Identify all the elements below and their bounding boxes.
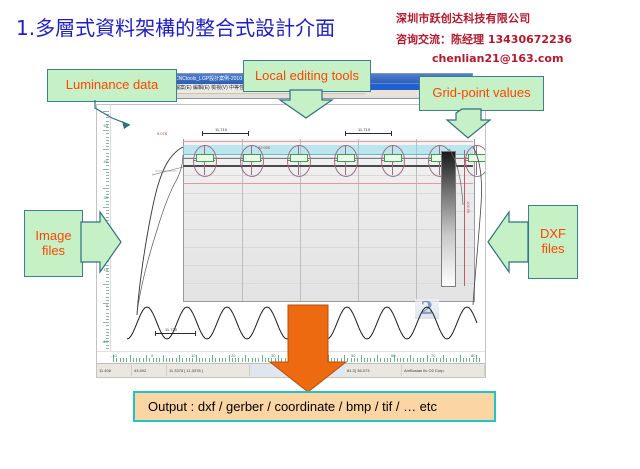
- cad-canvas[interactable]: 50403020100-10 11.710 11.710 5.076: [96, 104, 486, 378]
- ruler-tick: [314, 358, 315, 362]
- ruler-tick: [400, 358, 401, 362]
- ruler-tick: [196, 355, 197, 362]
- cad-canvas-inner: 50403020100-10 11.710 11.710 5.076: [97, 105, 485, 377]
- ruler-tick: [450, 358, 451, 362]
- ruler-tick: [453, 358, 454, 362]
- ruler-tick: [298, 358, 299, 362]
- ruler-tick: [278, 355, 279, 362]
- callout-dxf-files-line2: files: [541, 242, 564, 257]
- ruler-tick: [433, 358, 434, 362]
- ruler-tick: [252, 358, 253, 362]
- ruler-tick: [377, 355, 378, 362]
- status-bar-cell: [250, 365, 345, 376]
- ruler-tick: [436, 358, 437, 362]
- ruler-tick: [413, 358, 414, 362]
- ruler-tick: [153, 358, 154, 362]
- ruler-tick: [159, 358, 160, 362]
- ruler-tick: [212, 355, 213, 362]
- callout-dxf-files[interactable]: DXF files: [528, 205, 578, 279]
- callout-grid-point-values[interactable]: Grid-point values: [419, 76, 544, 111]
- status-bar-cell: 81.3) 36.073: [345, 365, 402, 376]
- arrow-dxf-files-left: [488, 212, 528, 272]
- ruler-tick: [456, 358, 457, 362]
- ruler-tick: [248, 358, 249, 362]
- cad-curves: [97, 105, 485, 377]
- output-formats-box[interactable]: Output : dxf / gerber / coordinate / bmp…: [133, 391, 496, 422]
- ruler-tick: [139, 358, 140, 362]
- ruler-tick: [308, 358, 309, 362]
- ruler-label: 0: [151, 353, 153, 358]
- callout-image-files-line2: files: [42, 244, 65, 259]
- ruler-tick: [427, 355, 428, 362]
- ruler-tick: [232, 358, 233, 362]
- ruler-tick: [337, 358, 338, 362]
- horizontal-ruler[interactable]: -1001020304050607080: [97, 351, 485, 363]
- ruler-tick: [176, 358, 177, 362]
- ruler-tick: [133, 358, 134, 362]
- ruler-tick: [123, 358, 124, 362]
- ruler-tick: [235, 358, 236, 362]
- ruler-tick: [344, 355, 345, 362]
- ruler-tick: [354, 358, 355, 362]
- ruler-tick: [291, 358, 292, 362]
- ruler-tick: [288, 358, 289, 362]
- ruler-tick: [172, 358, 173, 362]
- ruler-tick: [285, 358, 286, 362]
- ruler-tick: [347, 358, 348, 362]
- status-bar: 11.40643.40211.3378 [ 11.3378 ]81.3) 36.…: [97, 363, 485, 377]
- ruler-tick: [370, 358, 371, 362]
- ruler-tick: [301, 358, 302, 362]
- ruler-tick: [163, 355, 164, 362]
- ruler-tick: [430, 358, 431, 362]
- ruler-tick: [341, 358, 342, 362]
- ruler-label: -10: [111, 353, 117, 358]
- ruler-tick: [304, 358, 305, 362]
- ruler-tick: [271, 358, 272, 362]
- company-name: 深圳市跃创达科技有限公司: [396, 10, 640, 26]
- ruler-tick: [295, 355, 296, 362]
- ruler-tick: [238, 358, 239, 362]
- callout-image-files[interactable]: Image files: [24, 210, 83, 277]
- ruler-tick: [255, 358, 256, 362]
- ruler-tick: [380, 358, 381, 362]
- ruler-tick: [463, 358, 464, 362]
- ruler-tick: [479, 358, 480, 362]
- ruler-tick: [318, 358, 319, 362]
- ruler-tick: [275, 358, 276, 362]
- ruler-tick: [420, 358, 421, 362]
- ruler-tick: [149, 358, 150, 362]
- ruler-tick: [374, 358, 375, 362]
- ruler-tick: [384, 358, 385, 362]
- ruler-tick: [225, 358, 226, 362]
- ruler-tick: [397, 358, 398, 362]
- ruler-tick: [179, 355, 180, 362]
- ruler-tick: [143, 358, 144, 362]
- ruler-tick: [136, 358, 137, 362]
- ruler-tick: [186, 358, 187, 362]
- ruler-tick: [199, 358, 200, 362]
- ruler-tick: [258, 358, 259, 362]
- ruler-tick: [390, 358, 391, 362]
- ruler-label: 30: [271, 353, 275, 358]
- ruler-label: 60: [391, 353, 395, 358]
- ruler-tick: [443, 355, 444, 362]
- ruler-label: 80: [471, 353, 475, 358]
- ruler-tick: [189, 358, 190, 362]
- ruler-tick: [222, 358, 223, 362]
- ruler-label: 70: [431, 353, 435, 358]
- ruler-tick: [156, 358, 157, 362]
- callout-local-editing-tools[interactable]: Local editing tools: [243, 60, 371, 92]
- ruler-label: 40: [311, 353, 315, 358]
- ruler-tick: [407, 358, 408, 362]
- ruler-tick: [265, 358, 266, 362]
- ruler-tick: [357, 358, 358, 362]
- ruler-tick: [440, 358, 441, 362]
- ruler-tick: [202, 358, 203, 362]
- ruler-tick: [417, 358, 418, 362]
- ruler-label: 20: [231, 353, 235, 358]
- ruler-tick: [229, 355, 230, 362]
- ruler-tick: [446, 358, 447, 362]
- ruler-tick: [192, 358, 193, 362]
- ruler-tick: [169, 358, 170, 362]
- ruler-tick: [331, 358, 332, 362]
- ruler-tick: [351, 358, 352, 362]
- ruler-tick: [215, 358, 216, 362]
- page-title: 1.多層式資料架構的整合式設計介面: [16, 12, 335, 41]
- ruler-tick: [262, 355, 263, 362]
- slide-root: 1.多層式資料架構的整合式設計介面 深圳市跃创达科技有限公司 咨询交流：陈经理 …: [0, 0, 640, 469]
- callout-image-files-line1: Image: [35, 229, 71, 244]
- ruler-tick: [245, 355, 246, 362]
- ruler-tick: [387, 358, 388, 362]
- ruler-tick: [324, 358, 325, 362]
- ruler-tick: [268, 358, 269, 362]
- ruler-tick: [364, 358, 365, 362]
- ruler-tick: [466, 358, 467, 362]
- ruler-tick: [126, 358, 127, 362]
- ruler-tick: [473, 358, 474, 362]
- ruler-tick: [423, 358, 424, 362]
- ruler-tick: [146, 355, 147, 362]
- ruler-tick: [469, 358, 470, 362]
- ruler-tick: [361, 355, 362, 362]
- ruler-tick: [367, 358, 368, 362]
- ruler-tick: [476, 355, 477, 362]
- ruler-tick: [182, 358, 183, 362]
- ruler-tick: [242, 358, 243, 362]
- ruler-label: 50: [351, 353, 355, 358]
- ruler-tick: [410, 355, 411, 362]
- ruler-tick: [403, 358, 404, 362]
- ruler-label: 10: [191, 353, 195, 358]
- ruler-tick: [205, 358, 206, 362]
- ruler-tick: [120, 358, 121, 362]
- ruler-tick: [166, 358, 167, 362]
- ruler-tick: [460, 355, 461, 362]
- status-bar-cell: 43.402: [132, 365, 167, 376]
- ruler-tick: [334, 358, 335, 362]
- company-contact: 咨询交流：陈经理 13430672236: [396, 31, 640, 47]
- company-email: chenlian21@163.com: [432, 52, 640, 65]
- callout-dxf-files-line1: DXF: [540, 227, 566, 242]
- status-bar-cell: AmBosian ltc O2 Corp.: [402, 365, 485, 376]
- ruler-tick: [116, 358, 117, 362]
- status-bar-cell: 11.406: [97, 365, 132, 376]
- ruler-tick: [281, 358, 282, 362]
- ruler-tick: [219, 358, 220, 362]
- ruler-tick: [328, 355, 329, 362]
- ruler-tick: [130, 355, 131, 362]
- company-info-block: 深圳市跃创达科技有限公司 咨询交流：陈经理 13430672236 chenli…: [396, 10, 640, 65]
- ruler-tick: [209, 358, 210, 362]
- status-bar-cell: 11.3378 [ 11.3378 ]: [167, 365, 250, 376]
- ruler-tick: [321, 358, 322, 362]
- callout-luminance-data[interactable]: Luminance data: [47, 69, 177, 102]
